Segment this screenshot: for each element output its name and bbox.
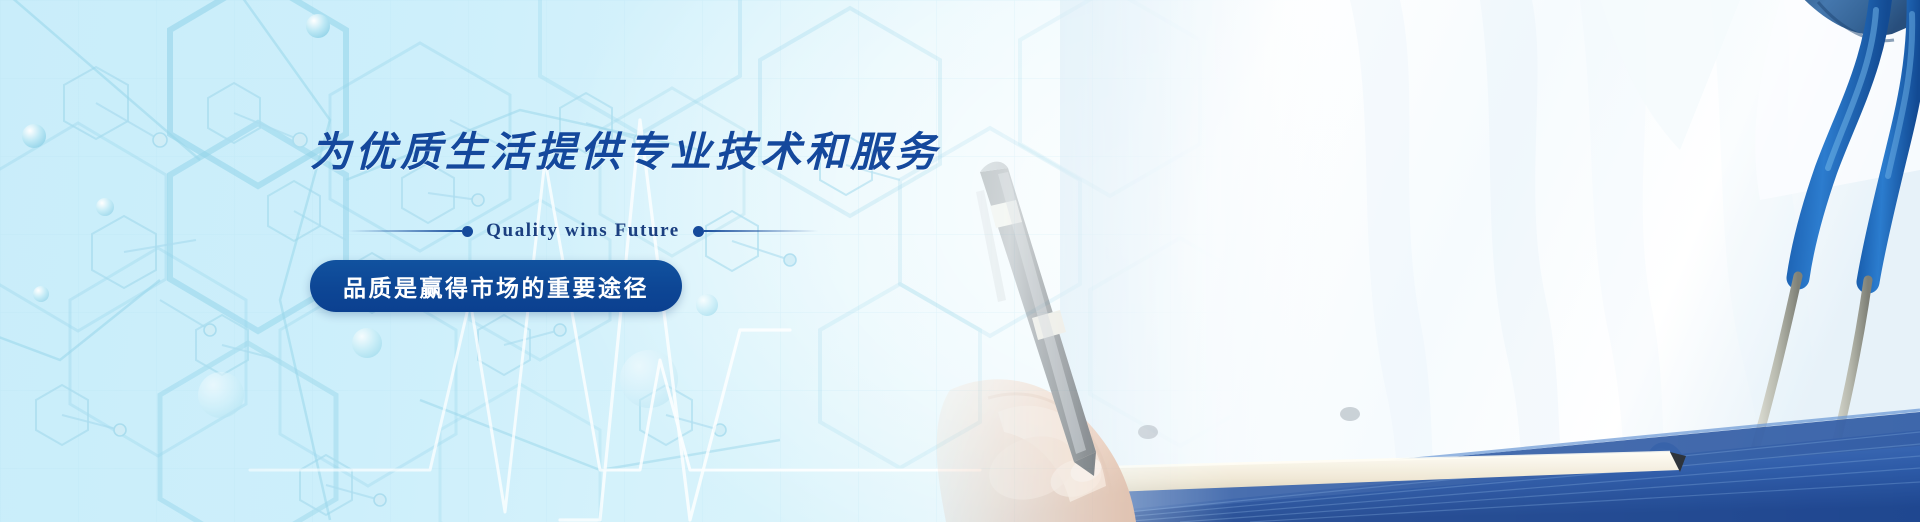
gradient-bubble — [352, 328, 382, 358]
slogan-pill-button[interactable]: 品质是赢得市场的重要途径 — [310, 260, 682, 312]
divider-line-left — [348, 230, 462, 232]
gradient-bubble — [22, 124, 46, 148]
gradient-bubble — [198, 372, 244, 418]
divider: Quality wins Future — [348, 220, 818, 242]
slogan-pill-label: 品质是赢得市场的重要途径 — [343, 269, 649, 303]
gradient-bubble — [306, 14, 330, 38]
gradient-bubble — [33, 286, 49, 302]
divider-line-right — [704, 230, 818, 232]
page-title: 为优质生活提供专业技术和服务 — [310, 118, 1030, 178]
gradient-bubble — [620, 350, 678, 408]
divider-dot-left — [462, 226, 473, 237]
hero-banner: 为优质生活提供专业技术和服务 Quality wins Future 品质是赢得… — [0, 0, 1920, 522]
banner-text-block: 为优质生活提供专业技术和服务 Quality wins Future 品质是赢得… — [310, 118, 1030, 312]
subtitle: Quality wins Future — [473, 220, 693, 242]
divider-dot-right — [693, 226, 704, 237]
gradient-bubble — [96, 198, 114, 216]
doctor-photo — [880, 0, 1920, 522]
